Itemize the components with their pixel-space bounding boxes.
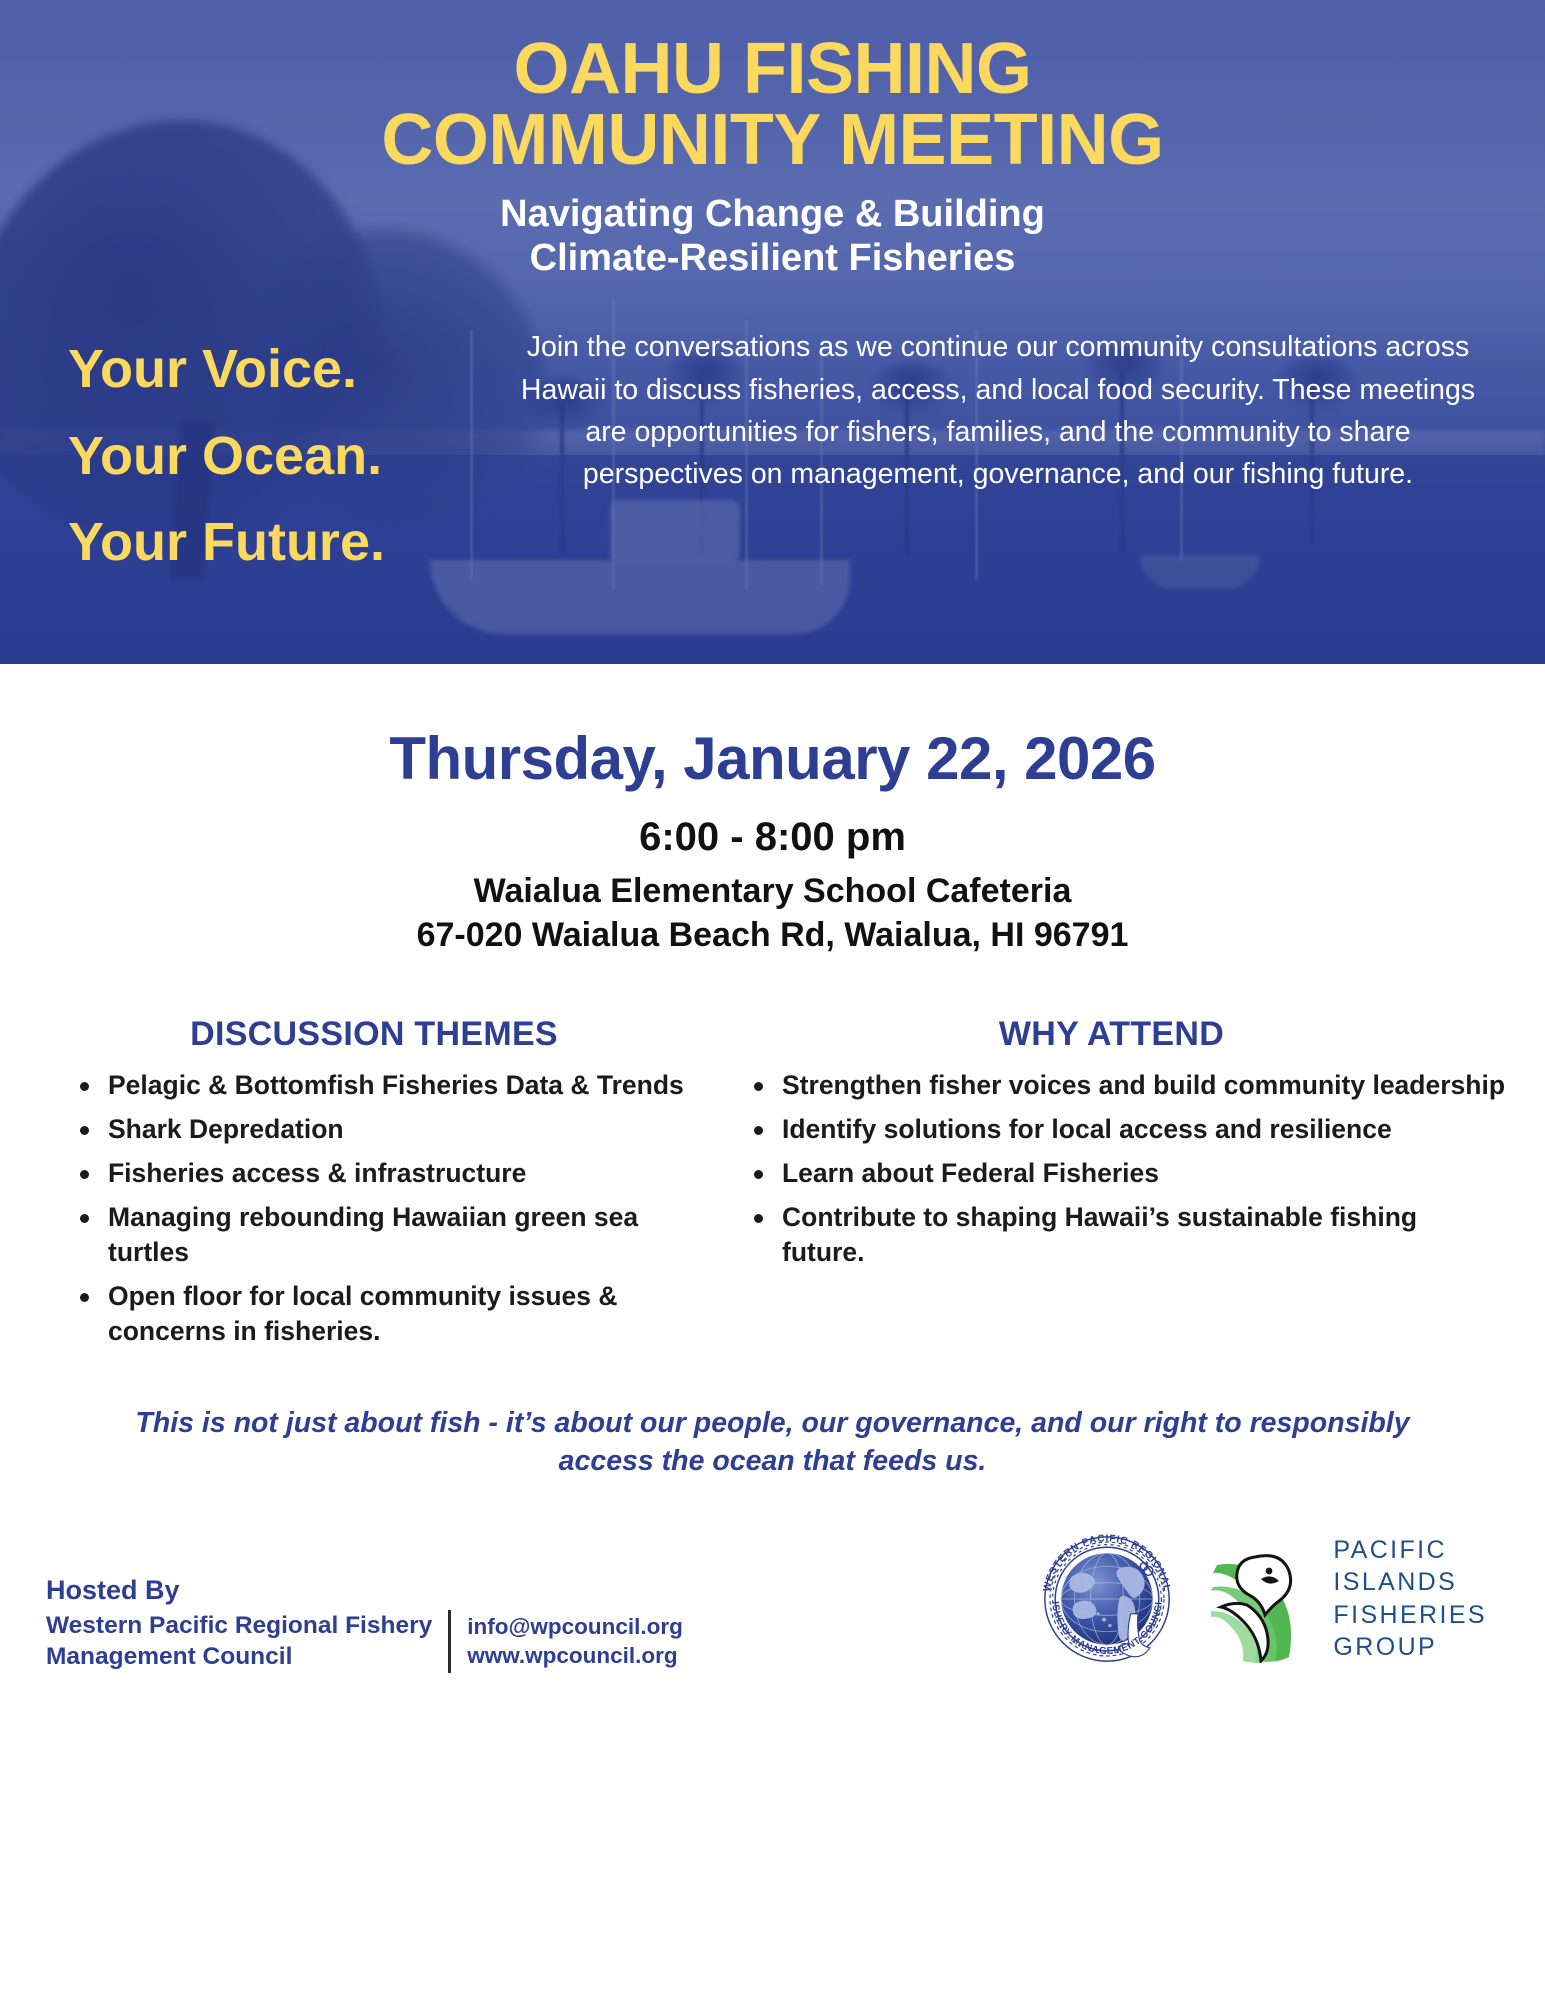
content-columns: DISCUSSION THEMES Pelagic & Bottomfish F…: [0, 1015, 1545, 1358]
list-item: Identify solutions for local access and …: [776, 1112, 1505, 1147]
wpcouncil-logo-icon: WESTERN PACIFIC REGIONAL FISHERY MANAGEM…: [1033, 1525, 1181, 1673]
pifg-text-line-3: FISHERIES: [1333, 1599, 1487, 1632]
slogan-block: Your Voice. Your Ocean. Your Future.: [40, 326, 505, 585]
event-details: Thursday, January 22, 2026 6:00 - 8:00 p…: [0, 664, 1545, 957]
list-item: Contribute to shaping Hawaii’s sustainab…: [776, 1200, 1505, 1270]
contact-email[interactable]: info@wpcouncil.org: [467, 1612, 683, 1642]
hero-banner: OAHU FISHING COMMUNITY MEETING Navigatin…: [0, 0, 1545, 664]
host-name-line-1: Western Pacific Regional Fishery: [46, 1610, 432, 1641]
page-title: OAHU FISHING COMMUNITY MEETING: [0, 34, 1545, 175]
contact-info: info@wpcouncil.org www.wpcouncil.org: [467, 1612, 683, 1671]
discussion-themes-heading: DISCUSSION THEMES: [44, 1015, 704, 1054]
why-attend-column: WHY ATTEND Strengthen fisher voices and …: [704, 1015, 1505, 1279]
list-item: Shark Depredation: [102, 1112, 704, 1147]
venue-name: Waialua Elementary School Cafeteria: [0, 870, 1545, 914]
event-date: Thursday, January 22, 2026: [0, 724, 1545, 793]
venue-address: 67-020 Waialua Beach Rd, Waialua, HI 967…: [0, 914, 1545, 958]
page-title-line-1: OAHU FISHING: [70, 34, 1475, 105]
pifg-text-line-2: ISLANDS: [1333, 1566, 1487, 1599]
list-item: Pelagic & Bottomfish Fisheries Data & Tr…: [102, 1068, 704, 1103]
discussion-themes-column: DISCUSSION THEMES Pelagic & Bottomfish F…: [44, 1015, 704, 1358]
pifg-fish-icon: [1211, 1535, 1321, 1663]
slogan-line-3: Your Future.: [68, 499, 505, 585]
why-attend-list: Strengthen fisher voices and build commu…: [718, 1068, 1505, 1270]
list-item: Learn about Federal Fisheries: [776, 1156, 1505, 1191]
closing-quote: This is not just about fish - it’s about…: [0, 1404, 1545, 1481]
discussion-themes-list: Pelagic & Bottomfish Fisheries Data & Tr…: [44, 1068, 704, 1349]
logo-group: WESTERN PACIFIC REGIONAL FISHERY MANAGEM…: [1033, 1525, 1511, 1673]
slogan-line-2: Your Ocean.: [68, 413, 505, 499]
hosted-by-label: Hosted By: [46, 1575, 683, 1606]
slogan-line-1: Your Voice.: [68, 326, 505, 412]
event-venue: Waialua Elementary School Cafeteria 67-0…: [0, 870, 1545, 957]
footer: Hosted By Western Pacific Regional Fishe…: [0, 1525, 1545, 1703]
list-item: Strengthen fisher voices and build commu…: [776, 1068, 1505, 1103]
list-item: Managing rebounding Hawaiian green sea t…: [102, 1200, 704, 1270]
page-subtitle: Navigating Change & Building Climate-Res…: [0, 193, 1545, 280]
pifg-logo-text: PACIFIC ISLANDS FISHERIES GROUP: [1333, 1534, 1487, 1664]
contact-website[interactable]: www.wpcouncil.org: [467, 1641, 683, 1671]
why-attend-heading: WHY ATTEND: [718, 1015, 1505, 1054]
pifg-text-line-4: GROUP: [1333, 1631, 1487, 1664]
event-time: 6:00 - 8:00 pm: [0, 815, 1545, 860]
divider: [448, 1610, 451, 1673]
list-item: Open floor for local community issues & …: [102, 1279, 704, 1349]
page-subtitle-line-2: Climate-Resilient Fisheries: [200, 237, 1345, 281]
host-block: Hosted By Western Pacific Regional Fishe…: [46, 1575, 683, 1673]
page-subtitle-line-1: Navigating Change & Building: [200, 193, 1345, 237]
host-organization-name: Western Pacific Regional Fishery Managem…: [46, 1610, 448, 1673]
list-item: Fisheries access & infrastructure: [102, 1156, 704, 1191]
pifg-logo: PACIFIC ISLANDS FISHERIES GROUP: [1211, 1534, 1487, 1664]
pifg-text-line-1: PACIFIC: [1333, 1534, 1487, 1567]
intro-paragraph: Join the conversations as we continue ou…: [505, 326, 1509, 495]
page-title-line-2: COMMUNITY MEETING: [70, 105, 1475, 176]
host-name-line-2: Management Council: [46, 1641, 432, 1672]
